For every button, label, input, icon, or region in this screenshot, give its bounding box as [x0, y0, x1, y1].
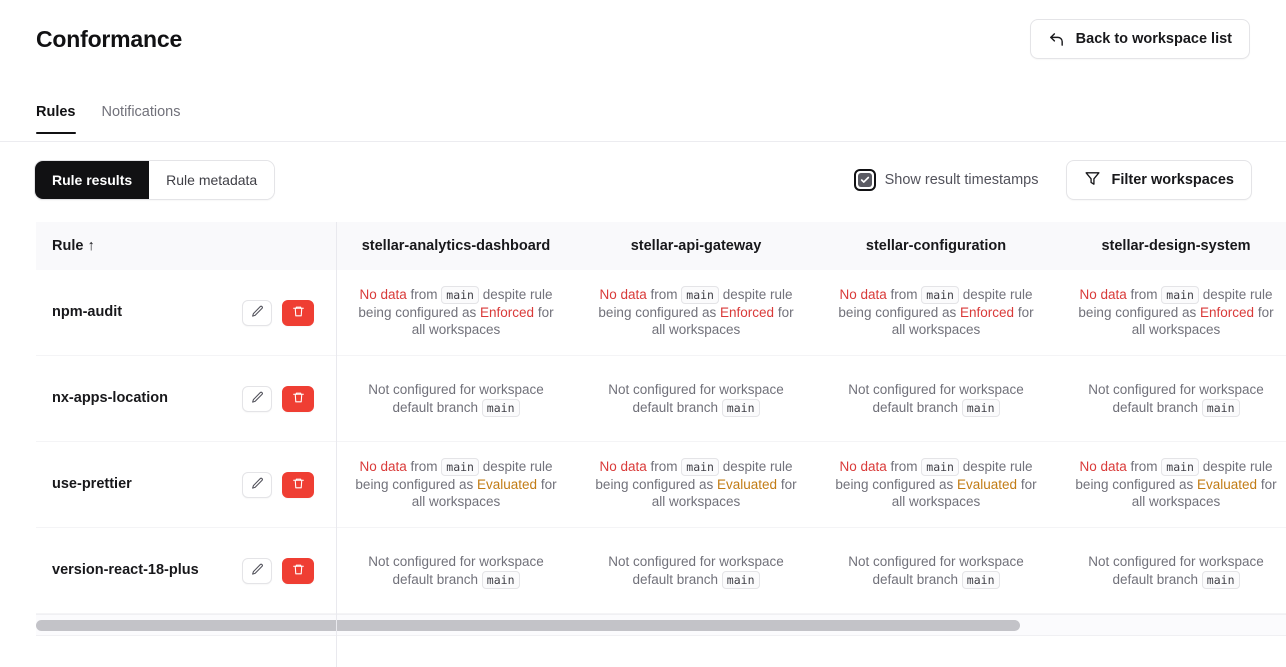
branch-chip: main	[722, 399, 760, 417]
table-cell-result: No data from main despite rule being con…	[816, 442, 1056, 528]
result-text: Not configured for workspace default bra…	[1070, 553, 1282, 588]
result-text: No data from main despite rule being con…	[350, 286, 562, 339]
table-row-rule-cell: nx-apps-location	[36, 356, 336, 442]
rule-name: version-react-18-plus	[52, 561, 199, 580]
branch-chip: main	[962, 399, 1000, 417]
pencil-icon	[251, 563, 264, 579]
status-label: Enforced	[960, 305, 1014, 320]
branch-chip: main	[482, 399, 520, 417]
table-cell-result: No data from main despite rule being con…	[336, 442, 576, 528]
pencil-icon	[251, 305, 264, 321]
result-text: No data from main despite rule being con…	[590, 286, 802, 339]
column-header-workspace[interactable]: stellar-api-gateway	[576, 222, 816, 270]
delete-rule-button[interactable]	[282, 472, 314, 498]
column-header-label: stellar-configuration	[866, 238, 1006, 254]
table-cell-result: Not configured for workspace default bra…	[576, 528, 816, 614]
no-data-label: No data	[359, 287, 406, 302]
show-result-timestamps-checkbox[interactable]: Show result timestamps	[854, 169, 1039, 191]
branch-chip: main	[1202, 399, 1240, 417]
no-data-label: No data	[359, 459, 406, 474]
result-text: No data from main despite rule being con…	[830, 286, 1042, 339]
delete-rule-button[interactable]	[282, 300, 314, 326]
table-cell-result: Not configured for workspace default bra…	[1056, 356, 1286, 442]
back-button-label: Back to workspace list	[1076, 31, 1232, 47]
tab-bar: Rules Notifications	[0, 104, 1286, 142]
delete-rule-button[interactable]	[282, 386, 314, 412]
branch-chip: main	[962, 571, 1000, 589]
edit-rule-button[interactable]	[242, 558, 272, 584]
branch-chip: main	[722, 571, 760, 589]
no-data-label: No data	[1079, 287, 1126, 302]
status-label: Evaluated	[717, 477, 777, 492]
table-cell-result: Not configured for workspace default bra…	[576, 356, 816, 442]
result-text: Not configured for workspace default bra…	[830, 381, 1042, 416]
no-data-label: No data	[839, 459, 886, 474]
row-actions	[242, 386, 314, 412]
edit-rule-button[interactable]	[242, 386, 272, 412]
horizontal-scrollbar[interactable]	[36, 614, 1286, 636]
segment-rule-metadata[interactable]: Rule metadata	[149, 161, 274, 199]
view-mode-segmented-control: Rule results Rule metadata	[34, 160, 275, 200]
table-cell-result: No data from main despite rule being con…	[576, 270, 816, 356]
table-cell-result: No data from main despite rule being con…	[816, 270, 1056, 356]
status-label: Enforced	[480, 305, 534, 320]
result-text: No data from main despite rule being con…	[830, 458, 1042, 511]
trash-icon	[292, 477, 305, 493]
table-cell-result: No data from main despite rule being con…	[576, 442, 816, 528]
rules-table-region: Rule ↑stellar-analytics-dashboardstellar…	[36, 222, 1286, 667]
result-text: Not configured for workspace default bra…	[590, 553, 802, 588]
column-header-workspace[interactable]: stellar-design-system	[1056, 222, 1286, 270]
column-header-workspace[interactable]: stellar-analytics-dashboard	[336, 222, 576, 270]
trash-icon	[292, 563, 305, 579]
table-cell-result: No data from main despite rule being con…	[1056, 270, 1286, 356]
segment-rule-results[interactable]: Rule results	[35, 161, 149, 199]
row-actions	[242, 300, 314, 326]
tab-rules[interactable]: Rules	[36, 104, 76, 133]
column-header-rule[interactable]: Rule ↑	[36, 222, 336, 270]
rule-name: use-prettier	[52, 475, 132, 494]
rule-name: nx-apps-location	[52, 389, 168, 408]
back-to-workspace-list-button[interactable]: Back to workspace list	[1030, 19, 1250, 59]
trash-icon	[292, 391, 305, 407]
column-header-label: stellar-analytics-dashboard	[362, 238, 551, 254]
column-header-label: stellar-api-gateway	[631, 238, 762, 254]
column-header-label: stellar-design-system	[1101, 238, 1250, 254]
result-text: No data from main despite rule being con…	[1070, 286, 1282, 339]
status-label: Evaluated	[957, 477, 1017, 492]
filter-workspaces-button[interactable]: Filter workspaces	[1066, 160, 1253, 200]
result-text: No data from main despite rule being con…	[590, 458, 802, 511]
result-text: No data from main despite rule being con…	[350, 458, 562, 511]
table-cell-result: No data from main despite rule being con…	[336, 270, 576, 356]
rule-name: npm-audit	[52, 303, 122, 322]
table-cell-result: Not configured for workspace default bra…	[1056, 528, 1286, 614]
column-header-workspace[interactable]: stellar-configuration	[816, 222, 1056, 270]
branch-chip: main	[681, 458, 719, 476]
branch-chip: main	[681, 286, 719, 304]
table-cell-result: Not configured for workspace default bra…	[336, 356, 576, 442]
toolbar-right: Show result timestamps Filter workspaces	[854, 160, 1252, 200]
status-label: Enforced	[720, 305, 774, 320]
table-cell-result: Not configured for workspace default bra…	[816, 528, 1056, 614]
no-data-label: No data	[599, 459, 646, 474]
result-text: No data from main despite rule being con…	[1070, 458, 1282, 511]
status-label: Evaluated	[1197, 477, 1257, 492]
branch-chip: main	[1202, 571, 1240, 589]
toolbar: Rule results Rule metadata Show result t…	[0, 160, 1286, 200]
checkbox-label: Show result timestamps	[885, 172, 1039, 188]
column-header-label: Rule ↑	[52, 238, 95, 254]
page-header: Conformance Back to workspace list	[0, 0, 1286, 78]
table-row-rule-cell: npm-audit	[36, 270, 336, 356]
table-row-rule-cell: use-prettier	[36, 442, 336, 528]
sort-ascending-icon: ↑	[87, 238, 94, 254]
status-label: Evaluated	[477, 477, 537, 492]
rules-table: Rule ↑stellar-analytics-dashboardstellar…	[36, 222, 1286, 614]
horizontal-scrollbar-thumb[interactable]	[36, 620, 1020, 631]
no-data-label: No data	[839, 287, 886, 302]
branch-chip: main	[441, 458, 479, 476]
table-cell-result: No data from main despite rule being con…	[1056, 442, 1286, 528]
result-text: Not configured for workspace default bra…	[1070, 381, 1282, 416]
pencil-icon	[251, 477, 264, 493]
result-text: Not configured for workspace default bra…	[590, 381, 802, 416]
result-text: Not configured for workspace default bra…	[830, 553, 1042, 588]
back-arrow-icon	[1048, 31, 1065, 48]
edit-rule-button[interactable]	[242, 472, 272, 498]
checkbox-focus-ring	[854, 169, 876, 191]
trash-icon	[292, 305, 305, 321]
table-row-rule-cell: version-react-18-plus	[36, 528, 336, 614]
status-label: Enforced	[1200, 305, 1254, 320]
pencil-icon	[251, 391, 264, 407]
branch-chip: main	[921, 286, 959, 304]
edit-rule-button[interactable]	[242, 300, 272, 326]
branch-chip: main	[482, 571, 520, 589]
branch-chip: main	[1161, 286, 1199, 304]
tab-notifications[interactable]: Notifications	[102, 104, 181, 133]
delete-rule-button[interactable]	[282, 558, 314, 584]
page-title: Conformance	[36, 26, 182, 53]
funnel-icon	[1084, 170, 1101, 191]
conformance-page: Conformance Back to workspace list Rules…	[0, 0, 1286, 667]
branch-chip: main	[1161, 458, 1199, 476]
checkbox-checked-box	[858, 173, 872, 187]
no-data-label: No data	[599, 287, 646, 302]
branch-chip: main	[921, 458, 959, 476]
table-cell-result: Not configured for workspace default bra…	[816, 356, 1056, 442]
row-actions	[242, 472, 314, 498]
filter-button-label: Filter workspaces	[1112, 172, 1235, 188]
no-data-label: No data	[1079, 459, 1126, 474]
branch-chip: main	[441, 286, 479, 304]
result-text: Not configured for workspace default bra…	[350, 553, 562, 588]
row-actions	[242, 558, 314, 584]
table-cell-result: Not configured for workspace default bra…	[336, 528, 576, 614]
result-text: Not configured for workspace default bra…	[350, 381, 562, 416]
